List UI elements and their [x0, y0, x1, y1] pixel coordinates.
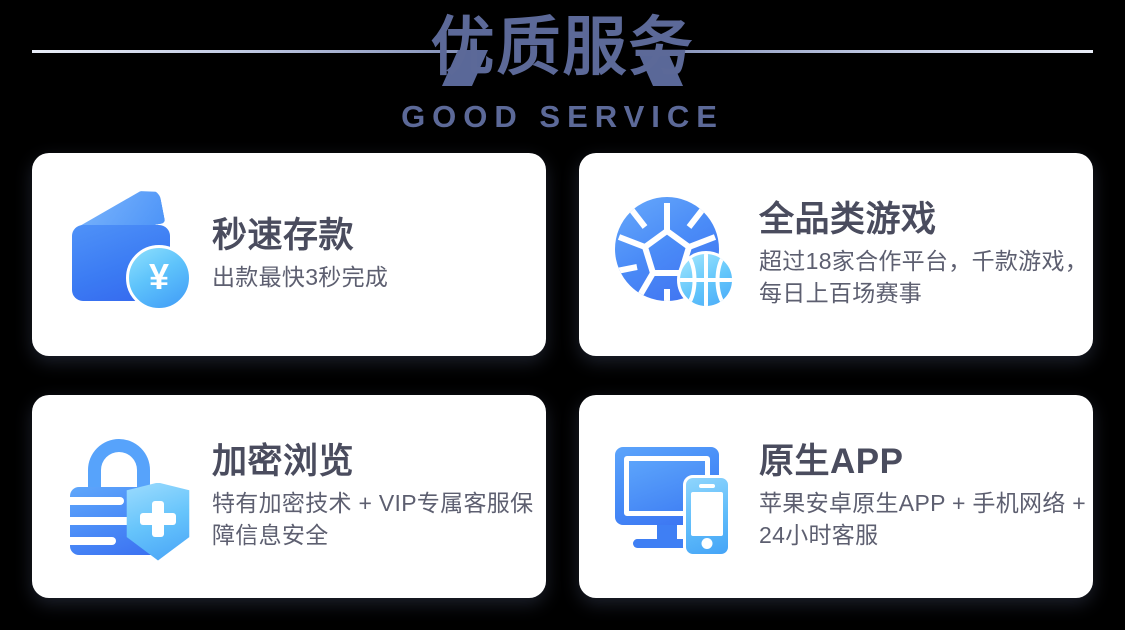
feature-card-desc: 出款最快3秒完成 [212, 262, 546, 294]
feature-card-encryption[interactable]: 加密浏览 特有加密技术 + VIP专属客服保障信息安全 [32, 395, 546, 598]
page-subtitle: GOOD SERVICE [0, 99, 1125, 135]
yuan-coin-icon: ¥ [126, 245, 192, 311]
feature-card-grid: ¥ 秒速存款 出款最快3秒完成 [32, 153, 1093, 598]
feature-card-games[interactable]: 全品类游戏 超过18家合作平台，千款游戏，每日上百场赛事 [579, 153, 1093, 356]
yuan-symbol: ¥ [149, 259, 169, 295]
monitor-phone-icon [611, 431, 743, 563]
page-header: 优质服务 GOOD SERVICE [0, 0, 1125, 148]
feature-card-title: 原生APP [759, 441, 1093, 482]
feature-card-deposit-text: 秒速存款 出款最快3秒完成 [212, 215, 546, 294]
soccer-basketball-icon [611, 189, 743, 321]
cross-icon [140, 513, 176, 525]
feature-card-title: 加密浏览 [212, 441, 546, 482]
lock-slit-icon [70, 537, 116, 545]
feature-card-title: 全品类游戏 [759, 199, 1093, 240]
feature-card-desc: 特有加密技术 + VIP专属客服保障信息安全 [212, 488, 546, 551]
lock-shield-icon [64, 431, 196, 563]
feature-card-desc: 超过18家合作平台，千款游戏，每日上百场赛事 [759, 246, 1093, 309]
shield-icon [124, 483, 192, 561]
basketball-icon [677, 251, 735, 309]
feature-card-native-app-text: 原生APP 苹果安卓原生APP + 手机网络 + 24小时客服 [759, 441, 1093, 552]
wallet-coin-icon: ¥ [64, 189, 196, 321]
page-title: 优质服务 [0, 8, 1125, 86]
lock-slit-icon [70, 497, 124, 505]
feature-card-games-text: 全品类游戏 超过18家合作平台，千款游戏，每日上百场赛事 [759, 199, 1093, 310]
feature-card-deposit[interactable]: ¥ 秒速存款 出款最快3秒完成 [32, 153, 546, 356]
feature-card-native-app[interactable]: 原生APP 苹果安卓原生APP + 手机网络 + 24小时客服 [579, 395, 1093, 598]
feature-card-encryption-text: 加密浏览 特有加密技术 + VIP专属客服保障信息安全 [212, 441, 546, 552]
feature-card-desc: 苹果安卓原生APP + 手机网络 + 24小时客服 [759, 488, 1093, 551]
smartphone-icon [683, 475, 731, 557]
feature-card-title: 秒速存款 [212, 215, 546, 256]
